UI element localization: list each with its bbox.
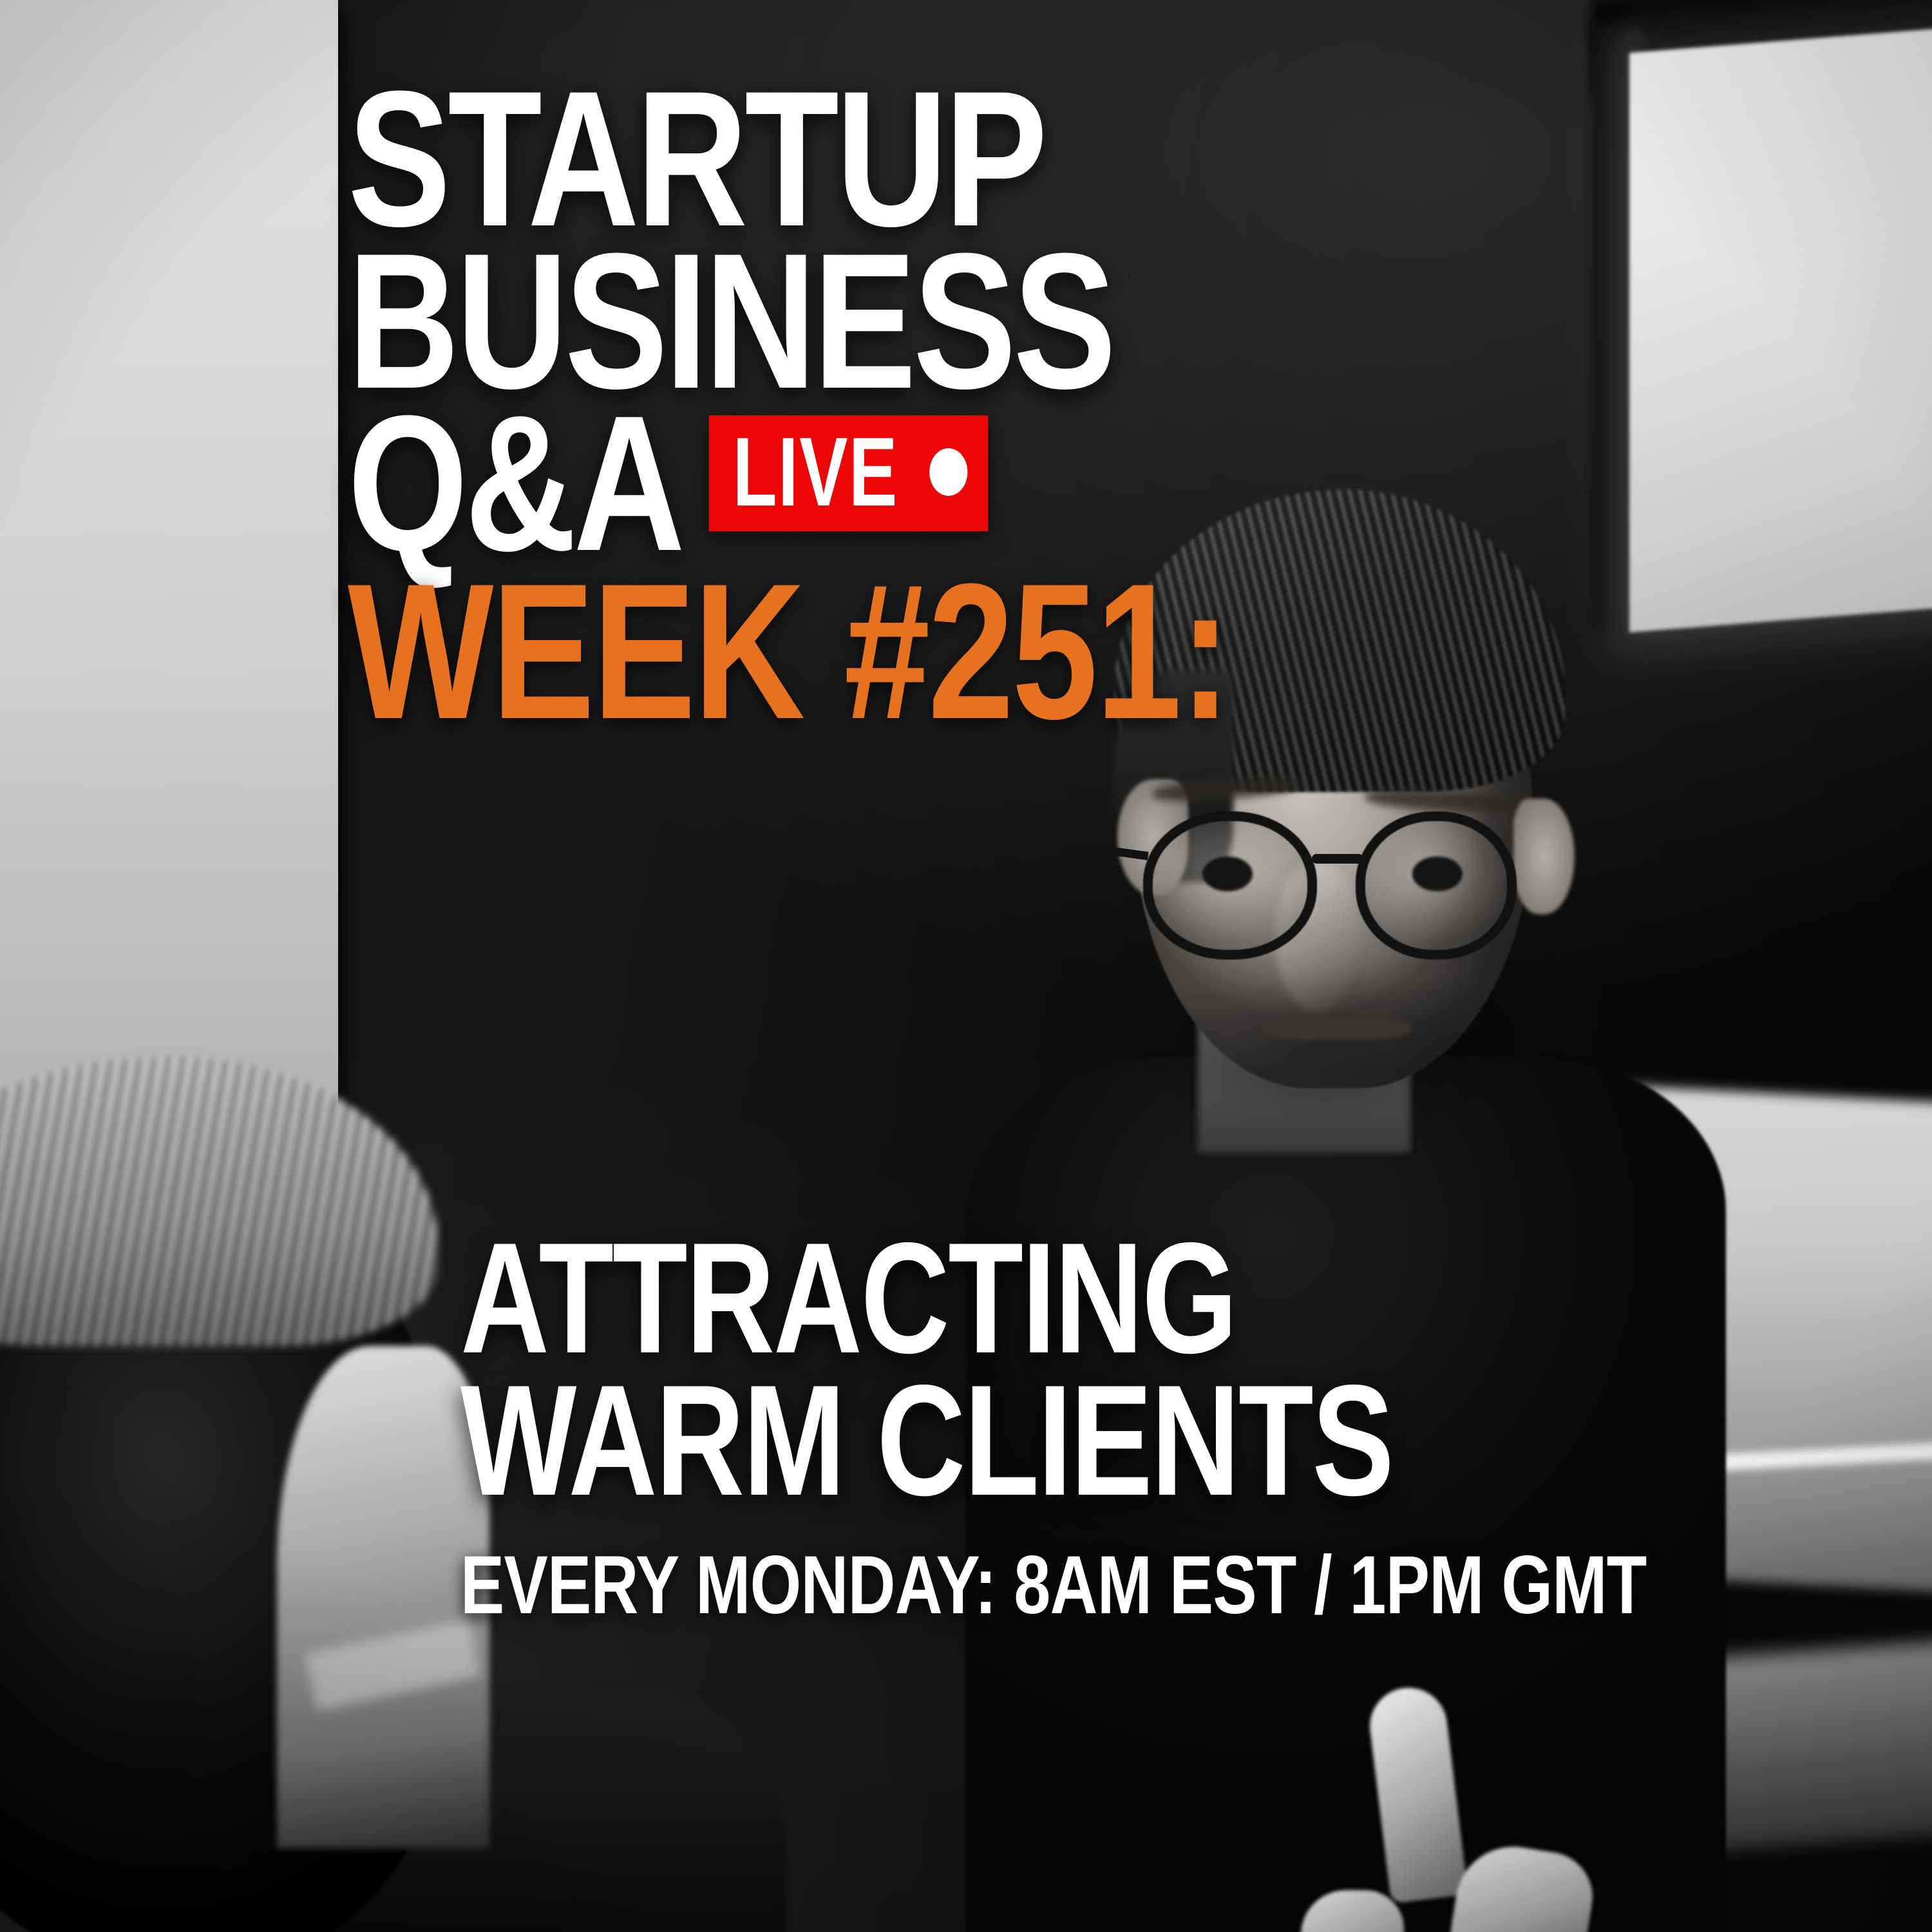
poster-canvas: STARTUP BUSINESS Q&A LIVE WEEK #251: ATT… (0, 0, 1932, 1932)
live-badge-label: LIVE (732, 432, 898, 513)
week-number-label: WEEK #251: (348, 568, 1327, 734)
schedule-label: EVERY MONDAY: 8AM EST / 1PM GMT (460, 1544, 1542, 1627)
text-overlay: STARTUP BUSINESS Q&A LIVE WEEK #251: ATT… (0, 0, 1932, 1932)
qa-live-row: Q&A LIVE (348, 402, 1327, 564)
live-badge: LIVE (709, 415, 988, 532)
topic-line-1: ATTRACTING (460, 1227, 1515, 1369)
live-recording-dot-icon (929, 448, 967, 496)
topic-block: ATTRACTING WARM CLIENTS EVERY MONDAY: 8A… (460, 1227, 1813, 1627)
headline-line-3: Q&A (348, 402, 682, 564)
topic-line-2: WARM CLIENTS (460, 1369, 1515, 1511)
headline-block: STARTUP BUSINESS Q&A LIVE WEEK #251: (348, 77, 1571, 734)
